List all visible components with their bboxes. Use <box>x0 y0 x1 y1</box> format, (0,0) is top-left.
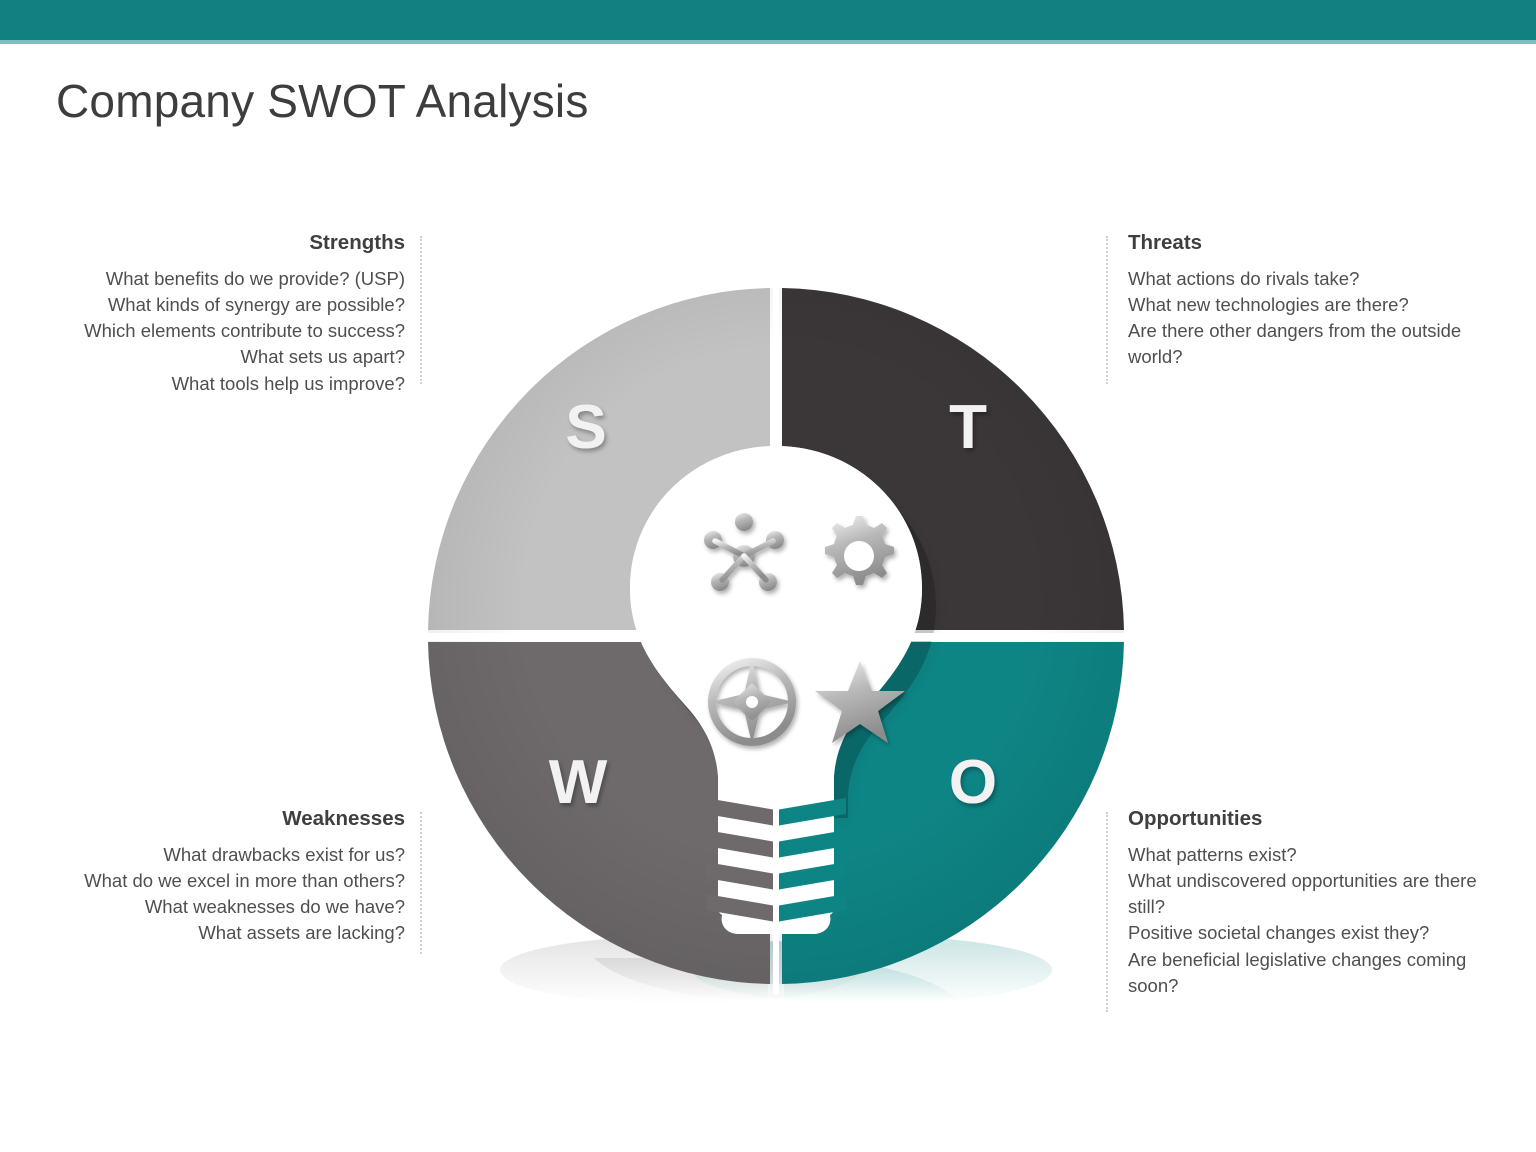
weaknesses-line: What weaknesses do we have? <box>45 894 405 920</box>
quadrant-letter-threats: T <box>949 393 987 462</box>
quadrant-text-threats: Threats What actions do rivals take? Wha… <box>1128 232 1508 371</box>
threats-line: What new technologies are there? <box>1128 292 1508 318</box>
strengths-line: What benefits do we provide? (USP) <box>55 266 405 292</box>
weaknesses-lines: What drawbacks exist for us? What do we … <box>45 842 405 947</box>
opportunities-heading: Opportunities <box>1128 808 1516 831</box>
compass-icon <box>710 660 794 744</box>
ring-horizontal-gap-right <box>778 633 1130 641</box>
weaknesses-line: What drawbacks exist for us? <box>45 842 405 868</box>
threats-lines: What actions do rivals take? What new te… <box>1128 266 1508 371</box>
strengths-lines: What benefits do we provide? (USP) What … <box>55 266 405 397</box>
swot-donut-graphic: S T W O <box>398 258 1154 1018</box>
page-title: Company SWOT Analysis <box>56 74 589 128</box>
gear-icon <box>825 516 894 585</box>
weaknesses-heading: Weaknesses <box>45 808 405 831</box>
strengths-line: What kinds of synergy are possible? <box>55 292 405 318</box>
quadrant-letter-strengths: S <box>565 393 606 462</box>
quadrant-text-strengths: Strengths What benefits do we provide? (… <box>55 232 405 397</box>
weaknesses-line: What assets are lacking? <box>45 920 405 946</box>
threats-line: What actions do rivals take? <box>1128 266 1508 292</box>
quadrant-text-weaknesses: Weaknesses What drawbacks exist for us? … <box>45 808 405 947</box>
quadrant-text-opportunities: Opportunities What patterns exist? What … <box>1128 808 1516 999</box>
ring-horizontal-gap-left <box>422 633 774 641</box>
strengths-heading: Strengths <box>55 232 405 255</box>
quadrant-letter-weaknesses: W <box>549 748 608 817</box>
top-accent-bar <box>0 0 1536 40</box>
threats-line: Are there other dangers from the outside… <box>1128 318 1508 371</box>
threats-heading: Threats <box>1128 232 1508 255</box>
strengths-line: What tools help us improve? <box>55 371 405 397</box>
strengths-line: Which elements contribute to success? <box>55 318 405 344</box>
strengths-line: What sets us apart? <box>55 344 405 370</box>
opportunities-line: Are beneficial legislative changes comin… <box>1128 947 1516 1000</box>
weaknesses-line: What do we excel in more than others? <box>45 868 405 894</box>
opportunities-line: What patterns exist? <box>1128 842 1516 868</box>
top-accent-underline <box>0 40 1536 44</box>
opportunities-lines: What patterns exist? What undiscovered o… <box>1128 842 1516 1000</box>
opportunities-line: What undiscovered opportunities are ther… <box>1128 868 1516 921</box>
opportunities-line: Positive societal changes exist they? <box>1128 920 1516 946</box>
quadrant-letter-opportunities: O <box>949 748 997 817</box>
